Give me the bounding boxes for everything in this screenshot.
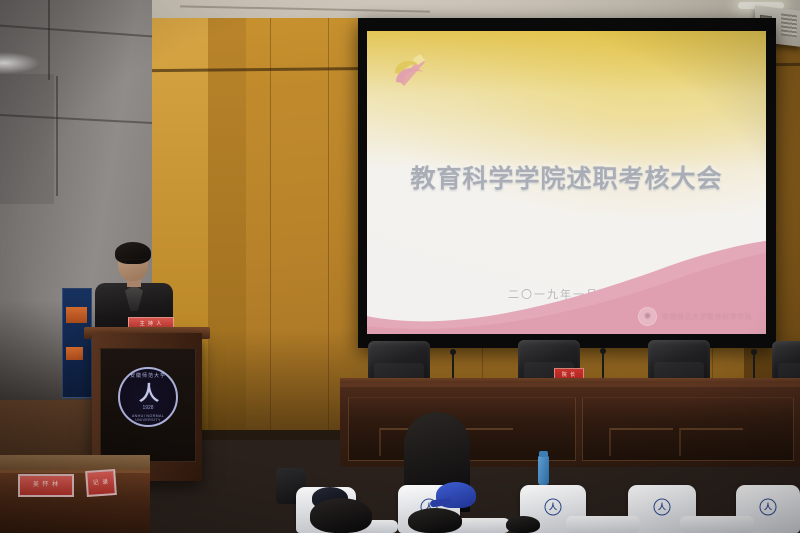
slide-logo-text: 安徽师范大学教育科学学院 xyxy=(662,312,752,322)
seal-chinese-text: 安徽师范大学 xyxy=(120,372,176,379)
slide-title: 教育科学学院述职考核大会 xyxy=(367,159,766,195)
university-logo-icon: ✺ xyxy=(638,307,657,326)
audience-seat-base xyxy=(566,516,640,533)
wall-light-glow xyxy=(0,52,40,74)
side-poster-banner xyxy=(62,288,92,398)
seat-logo-icon: 人 xyxy=(654,499,671,516)
audience-seat-base xyxy=(680,516,754,533)
seat-logo-icon: 人 xyxy=(760,499,777,516)
cpc-hammer-sickle-icon xyxy=(389,49,437,91)
blue-cap-attendee xyxy=(436,482,476,508)
seated-attendee xyxy=(506,516,540,533)
seat-logo-icon: 人 xyxy=(545,499,562,516)
stage-panel xyxy=(582,397,794,461)
seal-figure-glyph: 人 xyxy=(139,384,157,404)
ceiling-seam xyxy=(180,5,430,12)
seated-attendee xyxy=(310,498,372,533)
conference-hall-photo: 教育科学学院述职考核大会 二〇一九年一月四日 ✺ 安徽师范大学教育科学学院 院 … xyxy=(0,0,800,533)
projection-screen: 教育科学学院述职考核大会 二〇一九年一月四日 ✺ 安徽师范大学教育科学学院 xyxy=(367,31,766,334)
podium-front-panel: 安徽师范大学 人 1928 ANHUI NORMAL UNIVERSITY xyxy=(100,348,196,462)
seal-year: 1928 xyxy=(142,405,153,411)
front-nameplate: 记 录 xyxy=(85,469,117,497)
front-nameplate: 吴 怀 林 xyxy=(18,474,74,497)
slide-footer-logo: ✺ 安徽师范大学教育科学学院 xyxy=(638,307,752,326)
glasses-icon xyxy=(120,259,146,266)
blue-thermos xyxy=(538,455,549,485)
university-seal-icon: 安徽师范大学 人 1928 ANHUI NORMAL UNIVERSITY xyxy=(118,367,178,427)
seated-attendee xyxy=(408,508,462,533)
seal-english-text: ANHUI NORMAL UNIVERSITY xyxy=(120,414,176,422)
projector-vent-icon xyxy=(781,13,797,37)
